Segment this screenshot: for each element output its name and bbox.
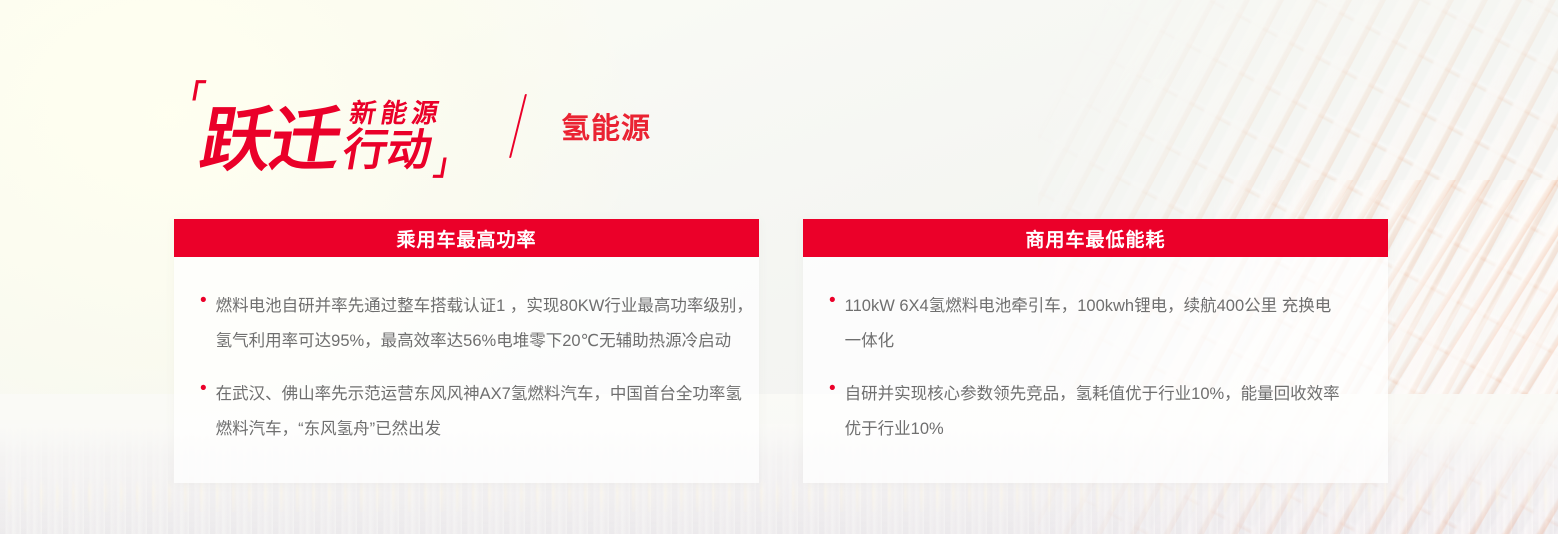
bullet-text: 自研并实现核心参数领先竞品，氢耗值优于行业10%，能量回收效率 优于行业10% [845, 377, 1358, 447]
bullet-line: 氢气利用率可达95%，最高效率达56%电堆零下20℃无辅助热源冷启动 [216, 324, 753, 359]
card-passenger-vehicle: 乘用车最高功率 • 燃料电池自研并率先通过整车搭载认证1 ，实现80KW行业最高… [174, 219, 759, 483]
bracket-open-icon: 「 [171, 82, 206, 112]
bullet-text: 在武汉、佛山率先示范运营东风风神AX7氢燃料汽车，中国首台全功率氢 燃料汽车，“… [216, 377, 742, 447]
card-body-commercial: • 110kW 6X4氢燃料电池牵引车，100kwh锂电，续航400公里 充换电… [803, 257, 1388, 483]
bullet-text: 燃料电池自研并率先通过整车搭载认证1 ，实现80KW行业最高功率级别， 氢气利用… [216, 289, 753, 359]
list-item: • 燃料电池自研并率先通过整车搭载认证1 ，实现80KW行业最高功率级别， 氢气… [200, 289, 729, 359]
bullet-dot-icon: • [829, 289, 836, 313]
bullet-line: 燃料电池自研并率先通过整车搭载认证1 ，实现80KW行业最高功率级别， [216, 289, 753, 324]
brand-logo-main-text: 跃迁 [196, 107, 346, 174]
bullet-line: 一体化 [845, 324, 1358, 359]
card-header-passenger: 乘用车最高功率 [174, 219, 759, 257]
bullet-line: 自研并实现核心参数领先竞品，氢耗值优于行业10%，能量回收效率 [845, 377, 1358, 412]
bullet-line: 燃料汽车，“东风氢舟”已然出发 [216, 412, 742, 447]
brand-logo-bottom-line: 行动 [339, 128, 440, 174]
card-body-passenger: • 燃料电池自研并率先通过整车搭载认证1 ，实现80KW行业最高功率级别， 氢气… [174, 257, 759, 483]
bracket-close-icon: 「 [432, 146, 467, 176]
hydrogen-energy-banner: 「 跃迁 新能源 行动 「 氢能源 乘用车最高功率 • 燃料电池自研并率先通过整… [0, 0, 1558, 534]
brand-logo-top-line: 新能源 [348, 99, 446, 128]
bullet-dot-icon: • [829, 377, 836, 401]
bullet-line: 在武汉、佛山率先示范运营东风风神AX7氢燃料汽车，中国首台全功率氢 [216, 377, 742, 412]
brand-logo-mark: 「 跃迁 新能源 行动 「 [174, 78, 465, 174]
list-item: • 110kW 6X4氢燃料电池牵引车，100kwh锂电，续航400公里 充换电… [829, 289, 1358, 359]
bullet-dot-icon: • [200, 289, 207, 313]
slash-divider-icon [509, 94, 527, 158]
bullet-dot-icon: • [200, 377, 207, 401]
brand-logo-row: 「 跃迁 新能源 行动 「 氢能源 [174, 78, 651, 174]
bullet-line: 110kW 6X4氢燃料电池牵引车，100kwh锂电，续航400公里 充换电 [845, 289, 1358, 324]
page-title: 氢能源 [561, 105, 651, 147]
bullet-line: 优于行业10% [845, 412, 1358, 447]
list-item: • 在武汉、佛山率先示范运营东风风神AX7氢燃料汽车，中国首台全功率氢 燃料汽车… [200, 377, 729, 447]
card-header-commercial: 商用车最低能耗 [803, 219, 1388, 257]
list-item: • 自研并实现核心参数领先竞品，氢耗值优于行业10%，能量回收效率 优于行业10… [829, 377, 1358, 447]
bullet-text: 110kW 6X4氢燃料电池牵引车，100kwh锂电，续航400公里 充换电 一… [845, 289, 1358, 359]
brand-logo-stacked-text: 新能源 行动 [339, 99, 445, 174]
info-cards-container: 乘用车最高功率 • 燃料电池自研并率先通过整车搭载认证1 ，实现80KW行业最高… [174, 219, 1388, 483]
card-commercial-vehicle: 商用车最低能耗 • 110kW 6X4氢燃料电池牵引车，100kwh锂电，续航4… [803, 219, 1388, 483]
